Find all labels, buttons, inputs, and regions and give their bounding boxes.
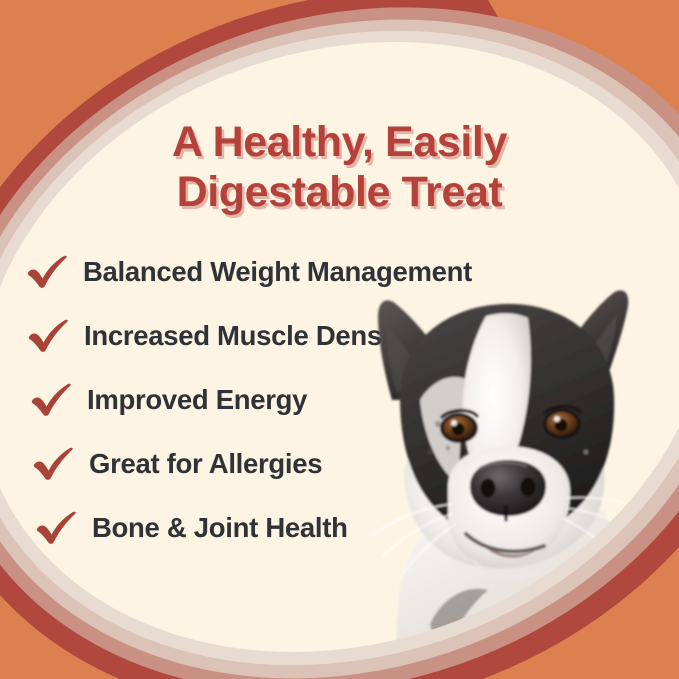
benefits-list: Balanced Weight Management Increased Mus… <box>0 240 679 560</box>
check-icon <box>26 316 72 356</box>
list-item-label: Balanced Weight Management <box>83 256 472 288</box>
page-title: A Healthy, Easily Digestable Treat <box>0 117 679 218</box>
page-title-line-2: Digestable Treat <box>0 167 679 217</box>
page-title-line-1: A Healthy, Easily <box>0 117 679 167</box>
list-item: Great for Allergies <box>0 432 679 496</box>
list-item: Bone & Joint Health <box>0 496 679 560</box>
list-item-label: Improved Energy <box>87 384 307 416</box>
list-item-label: Bone & Joint Health <box>92 512 348 544</box>
check-icon <box>29 380 75 420</box>
poster-content: A Healthy, Easily Digestable Treat Balan… <box>0 0 679 679</box>
poster-canvas: A Healthy, Easily Digestable Treat Balan… <box>0 0 679 679</box>
list-item: Improved Energy <box>0 368 679 432</box>
check-icon <box>25 252 71 292</box>
list-item-label: Great for Allergies <box>89 448 322 480</box>
list-item-label: Increased Muscle Density <box>84 320 413 352</box>
check-icon <box>34 508 80 548</box>
list-item: Balanced Weight Management <box>0 240 679 304</box>
check-icon <box>31 444 77 484</box>
list-item: Increased Muscle Density <box>0 304 679 368</box>
